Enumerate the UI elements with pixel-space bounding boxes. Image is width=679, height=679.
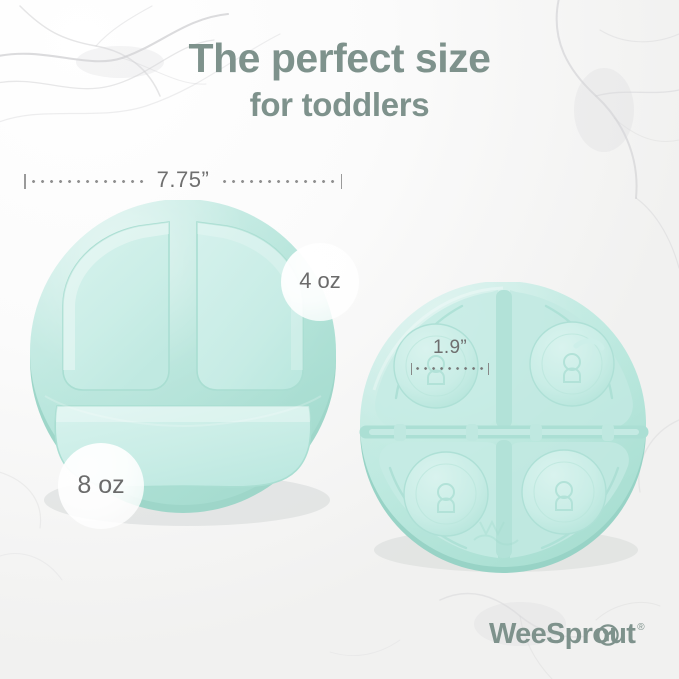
registered-trademark-symbol: ® <box>637 623 644 633</box>
sprout-icon <box>597 624 619 646</box>
divided-toddler-plate-back <box>358 282 650 574</box>
suction-cup-dimension-line <box>411 362 489 375</box>
capacity-badge-4oz: 4 oz <box>281 243 359 321</box>
capacity-badge-8oz-label: 8 oz <box>77 471 124 500</box>
brand-logo: WeeSprout ® <box>489 620 645 649</box>
headline-primary: The perfect size <box>0 36 679 82</box>
capacity-badge-8oz: 8 oz <box>58 443 144 529</box>
small-dimension-cap-right <box>488 363 489 375</box>
dimension-dots-right <box>221 176 336 187</box>
dimension-cap-left <box>24 174 26 189</box>
dimension-cap-right <box>341 174 343 189</box>
dimension-dots-left <box>30 176 145 187</box>
product-infographic: The perfect size for toddlers 7.75” <box>0 0 679 679</box>
small-dimension-cap-left <box>411 363 412 375</box>
suction-cup-dimension: 1.9” <box>411 338 489 375</box>
capacity-badge-4oz-label: 4 oz <box>299 268 341 294</box>
suction-cup-label: 1.9” <box>411 338 489 357</box>
headline-secondary: for toddlers <box>0 84 679 125</box>
plate-width-label: 7.75” <box>149 167 218 193</box>
plate-width-dimension: 7.75” <box>24 170 342 192</box>
headline-block: The perfect size for toddlers <box>0 36 679 125</box>
small-dimension-dots <box>415 364 484 373</box>
